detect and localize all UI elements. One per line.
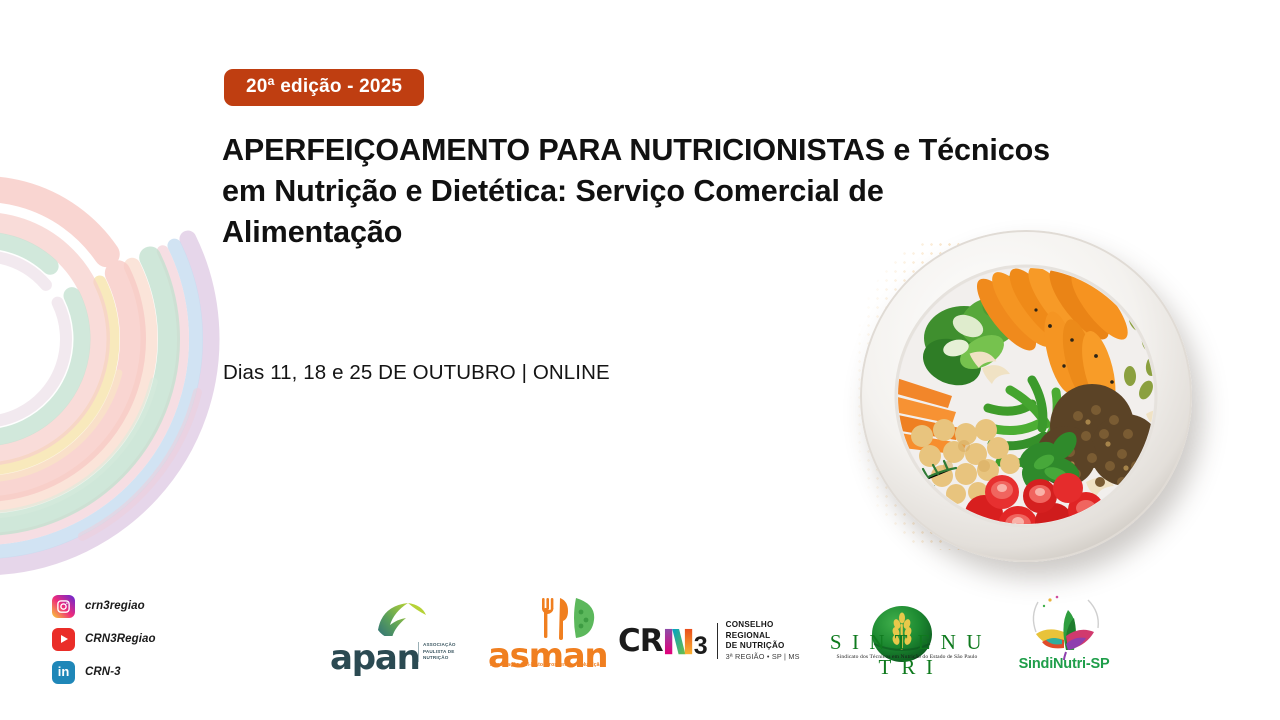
logo-sindinutri-sp: SindiNutri-SP <box>988 594 1140 686</box>
apan-wordmark: apan <box>330 638 420 678</box>
sintenutri-tagline: Sindicato dos Técnicos em Nutrição do Es… <box>822 654 992 660</box>
crn3-colored-n-icon <box>664 627 693 657</box>
social-row-youtube[interactable]: CRN3Regiao <box>52 623 156 655</box>
food-bowl-photo <box>838 222 1228 572</box>
youtube-handle: CRN3Regiao <box>85 633 156 645</box>
instagram-icon[interactable] <box>52 595 75 618</box>
crn3-descriptor: CONSELHO REGIONAL DE NUTRIÇÃO 3ª REGIÃO … <box>726 620 818 662</box>
social-links: crn3regiao CRN3Regiao in CRN-3 <box>52 590 156 689</box>
bowl-image <box>860 230 1192 562</box>
partner-logos: apan ASSOCIAÇÃO PAULISTA DE NUTRIÇÃO <box>330 596 1140 688</box>
asman-wordmark: asman <box>488 636 607 676</box>
crn3-number: 3 <box>694 634 708 659</box>
apan-leaf-icon <box>374 600 430 636</box>
logo-sintenutri: S I N T E N U T R I Sindicato dos Técnic… <box>822 602 992 682</box>
instagram-handle: crn3regiao <box>85 600 145 612</box>
social-row-linkedin[interactable]: in CRN-3 <box>52 656 156 688</box>
logo-apan: apan ASSOCIAÇÃO PAULISTA DE NUTRIÇÃO <box>330 596 470 688</box>
apan-tagline: ASSOCIAÇÃO PAULISTA DE NUTRIÇÃO <box>418 642 466 662</box>
crn3-line2: DE NUTRIÇÃO <box>726 641 818 652</box>
crn3-divider <box>717 623 718 659</box>
crn3-line1: CONSELHO REGIONAL <box>726 620 818 641</box>
event-dates: Dias 11, 18 e 25 DE OUTUBRO | ONLINE <box>223 361 610 385</box>
linkedin-icon[interactable]: in <box>52 661 75 684</box>
linkedin-handle: CRN-3 <box>85 666 121 678</box>
sindinutri-leaves-icon <box>1026 594 1106 660</box>
logo-asman: asman Associação Sul-Mato-Grossense de N… <box>488 596 638 688</box>
crn3-line3: 3ª REGIÃO • SP | MS <box>726 652 818 663</box>
asman-tagline: Associação Sul-Mato-Grossense de Nutriçã… <box>490 662 603 668</box>
logo-crn3: CR <box>618 618 818 670</box>
decorative-rings <box>0 104 218 574</box>
youtube-icon[interactable] <box>52 628 75 651</box>
edition-badge: 20ª edição - 2025 <box>224 69 424 106</box>
sindinutri-wordmark: SindiNutri-SP <box>988 656 1140 672</box>
asman-fork-knife-leaf-icon <box>536 596 598 640</box>
social-row-instagram[interactable]: crn3regiao <box>52 590 156 622</box>
slide-canvas: 20ª edição - 2025 APERFEIÇOAMENTO PARA N… <box>0 0 1280 720</box>
crn3-cr-text: CR <box>618 626 663 657</box>
